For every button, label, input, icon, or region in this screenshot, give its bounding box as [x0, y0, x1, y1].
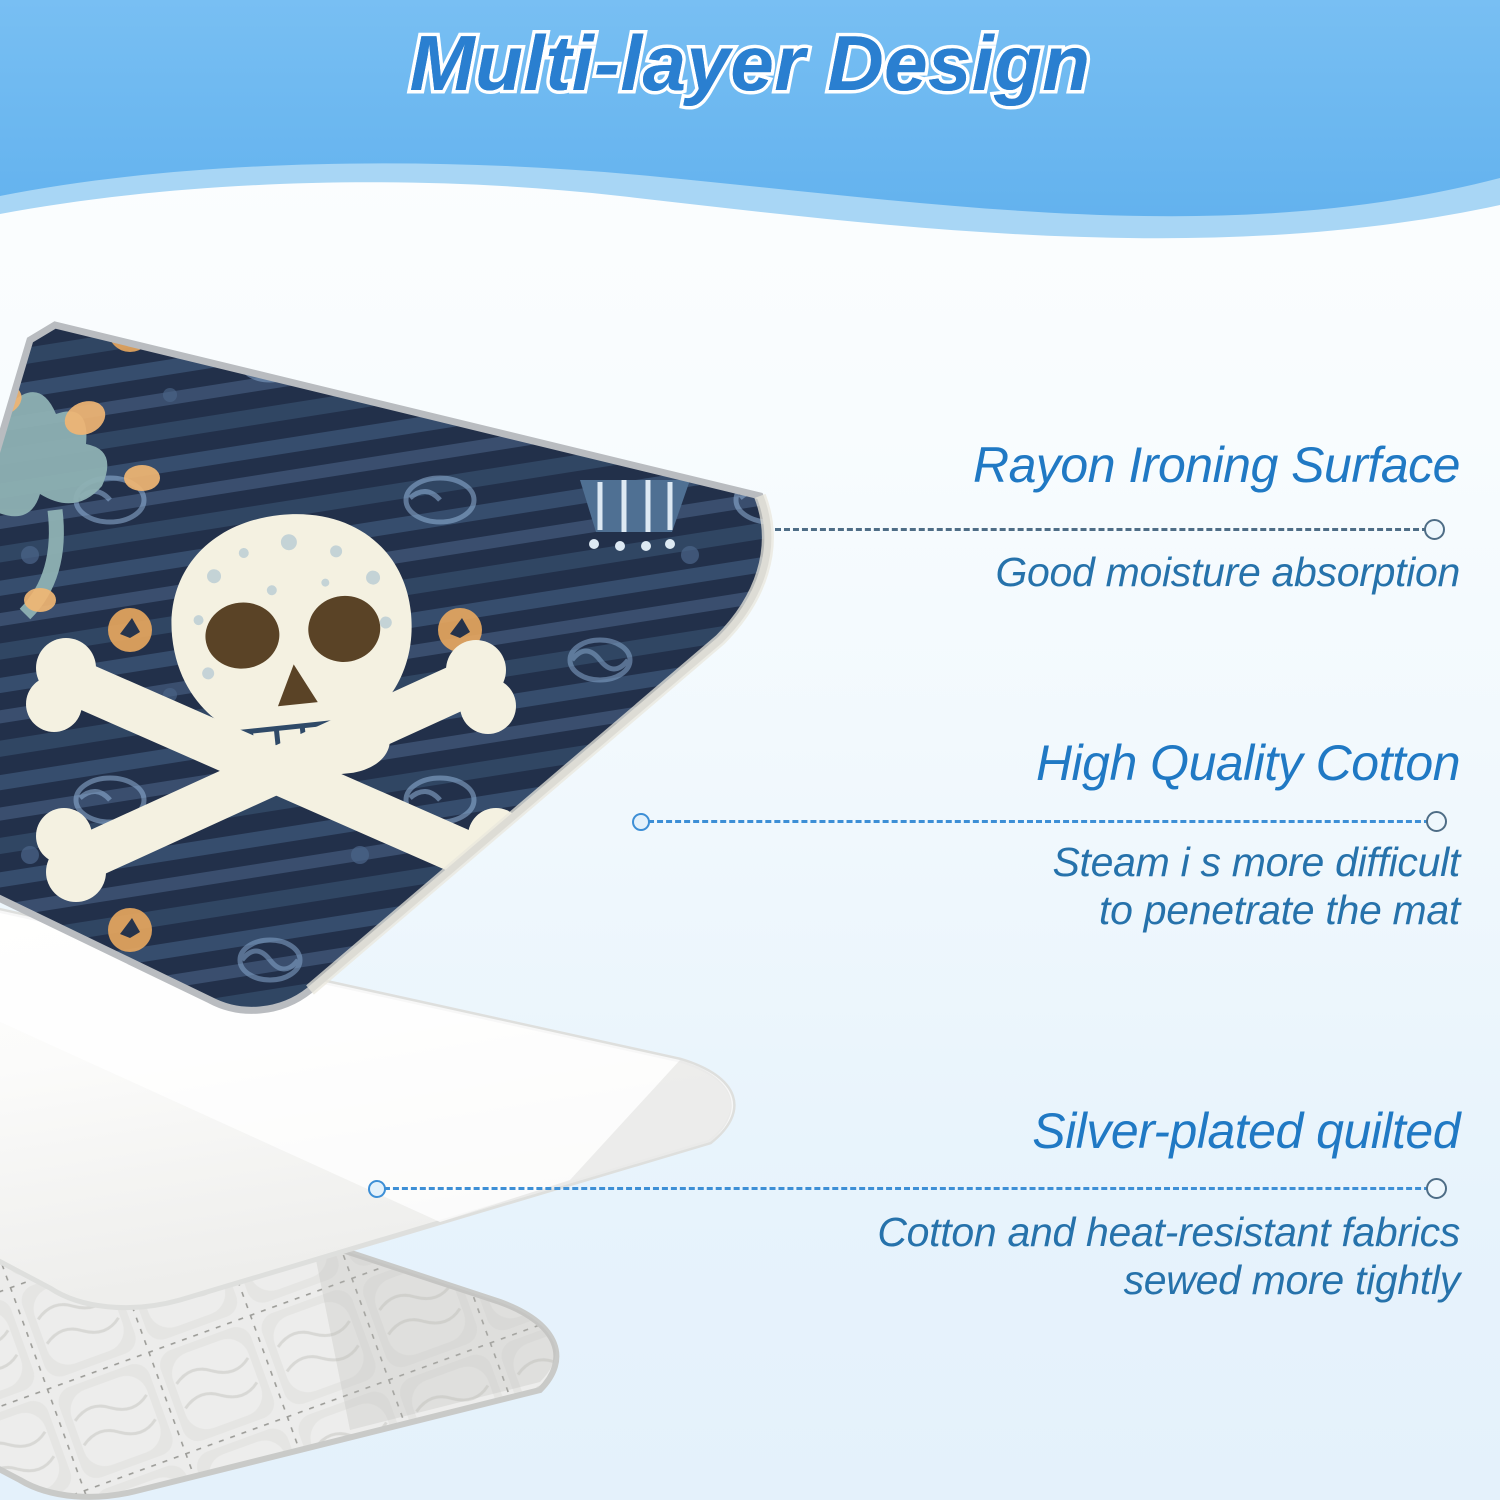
leader-line-quilted: [375, 1187, 1439, 1190]
leader-endpoint-cotton: [1426, 811, 1447, 832]
callout-subtitle-cotton-line-1: Steam i s more difficult: [640, 838, 1460, 886]
callout-rayon-sub: Good moisture absorption: [640, 548, 1460, 596]
infographic-canvas: Multi-layer Design Multi-layer Design: [0, 0, 1500, 1500]
callout-cotton-sub: Steam i s more difficult to penetrate th…: [640, 838, 1460, 935]
callout-title-quilted: Silver-plated quilted: [620, 1106, 1460, 1157]
callout-subtitle-cotton-line-2: to penetrate the mat: [640, 886, 1460, 934]
leader-endpoint-quilted: [1426, 1178, 1447, 1199]
callout-quilted: Silver-plated quilted: [620, 1106, 1460, 1157]
leader-line-cotton: [639, 820, 1439, 823]
leader-startpoint-quilted: [368, 1180, 386, 1198]
leader-endpoint-rayon: [1424, 519, 1445, 540]
callout-cotton: High Quality Cotton: [640, 738, 1460, 789]
page-title: Multi-layer Design: [0, 18, 1500, 109]
callout-subtitle-quilted-line-2: sewed more tightly: [620, 1256, 1460, 1304]
callout-rayon: Rayon Ironing Surface: [640, 440, 1460, 491]
callout-subtitle-rayon-line-1: Good moisture absorption: [640, 548, 1460, 596]
leader-line-rayon: [775, 528, 1437, 531]
callout-subtitle-quilted-line-1: Cotton and heat-resistant fabrics: [620, 1208, 1460, 1256]
callout-title-cotton: High Quality Cotton: [640, 738, 1460, 789]
callout-title-rayon: Rayon Ironing Surface: [640, 440, 1460, 491]
callout-quilted-sub: Cotton and heat-resistant fabrics sewed …: [620, 1208, 1460, 1305]
leader-startpoint-cotton: [632, 813, 650, 831]
header-banner: Multi-layer Design Multi-layer Design: [0, 0, 1500, 250]
